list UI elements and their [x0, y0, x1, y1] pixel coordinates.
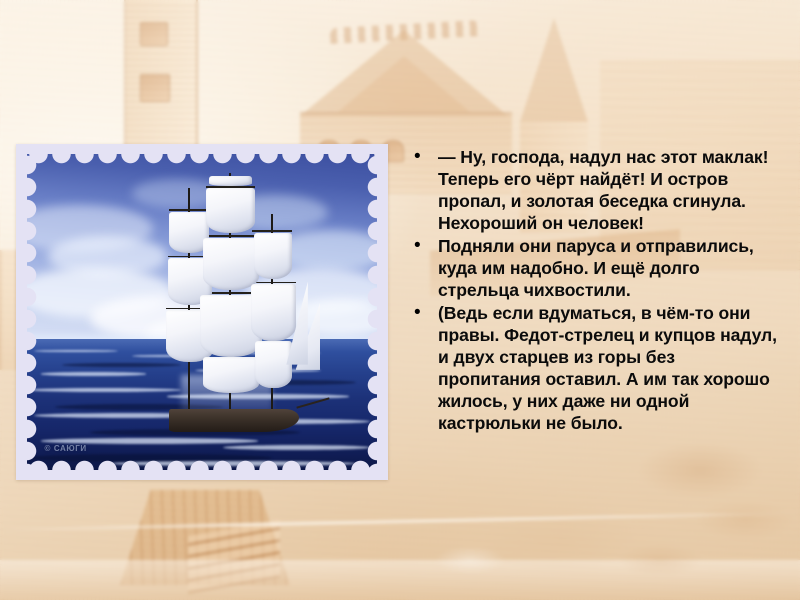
- sail: [255, 341, 292, 388]
- sail: [203, 238, 258, 290]
- sail: [203, 357, 258, 393]
- yard: [252, 230, 292, 232]
- sail: [251, 284, 296, 341]
- sail: [209, 176, 252, 186]
- wave-crest: [27, 388, 181, 392]
- bullet-list-item: • Подняли они паруса и отправились, куда…: [410, 235, 782, 301]
- bullet-marker-icon: •: [410, 302, 438, 324]
- wave-crest: [41, 372, 146, 376]
- sail: [254, 233, 293, 280]
- sailing-ship: [160, 173, 314, 432]
- ship-photo: © САЮГИ: [27, 154, 377, 470]
- presentation-slide: © САЮГИ • — Ну, господа, надул нас этот …: [0, 0, 800, 600]
- wave-crest: [111, 461, 356, 466]
- yard: [169, 209, 209, 211]
- bullet-paragraph-1: — Ну, господа, надул нас этот маклак! Те…: [438, 146, 782, 234]
- bullet-marker-icon: •: [410, 235, 438, 257]
- bullet-paragraph-2: Подняли они паруса и отправились, куда и…: [438, 235, 782, 301]
- slide-body-text: • — Ну, господа, надул нас этот маклак! …: [410, 146, 782, 435]
- bullet-list-item: • — Ну, господа, надул нас этот маклак! …: [410, 146, 782, 234]
- seascape-illustration: © САЮГИ: [27, 154, 377, 470]
- yard: [206, 186, 255, 188]
- sail: [206, 188, 255, 232]
- bullet-marker-icon: •: [410, 146, 438, 168]
- ship-photo-frame[interactable]: © САЮГИ: [16, 144, 388, 480]
- yard: [203, 235, 258, 237]
- wave-crest: [223, 445, 370, 450]
- ship-hull: [169, 409, 298, 432]
- bullet-paragraph-3: (Ведь если вдуматься, в чём-то они правы…: [438, 302, 782, 434]
- bullet-list-item: • (Ведь если вдуматься, в чём-то они пра…: [410, 302, 782, 434]
- photo-watermark: © САЮГИ: [45, 444, 87, 453]
